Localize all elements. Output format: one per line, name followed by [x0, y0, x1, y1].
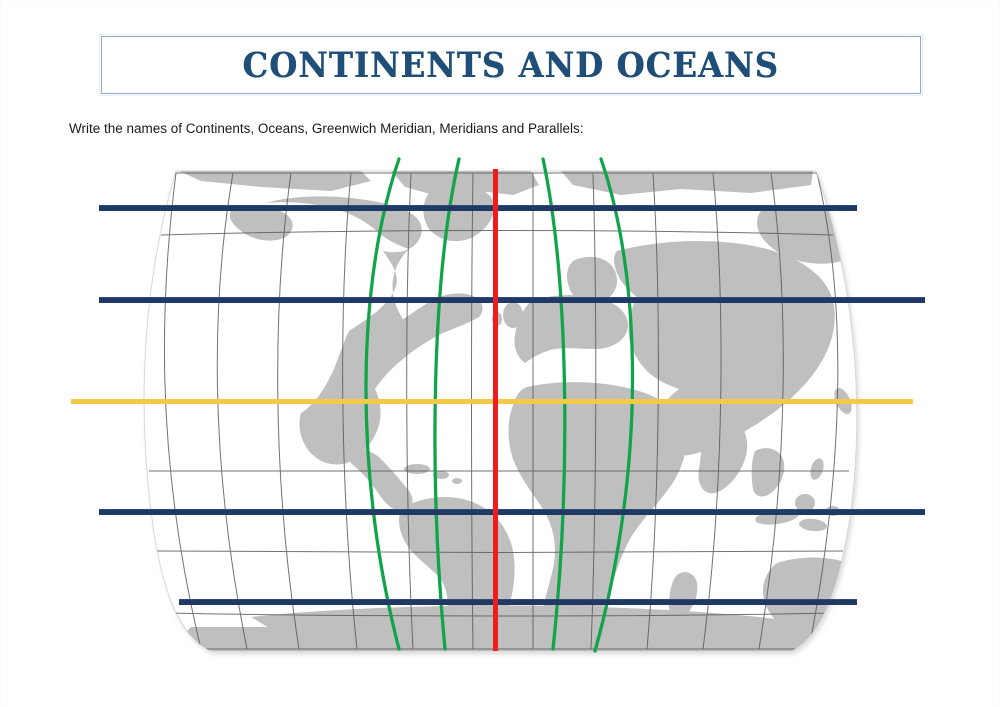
title-box: CONTINENTS AND OCEANS [101, 36, 921, 94]
world-map-svg [61, 151, 941, 671]
line-equator [71, 399, 913, 404]
world-map [61, 151, 941, 671]
parallel-arctic-circle [99, 205, 857, 211]
line-greenwich-meridian [493, 169, 498, 651]
page-title: CONTINENTS AND OCEANS [243, 45, 780, 86]
instruction-text: Write the names of Continents, Oceans, G… [69, 121, 584, 136]
parallel-tropic-of-cancer [99, 297, 925, 303]
parallel-antarctic-circle [179, 599, 857, 605]
parallel-tropic-of-capricorn [99, 509, 925, 515]
worksheet-page: CONTINENTS AND OCEANS Write the names of… [0, 0, 1000, 707]
